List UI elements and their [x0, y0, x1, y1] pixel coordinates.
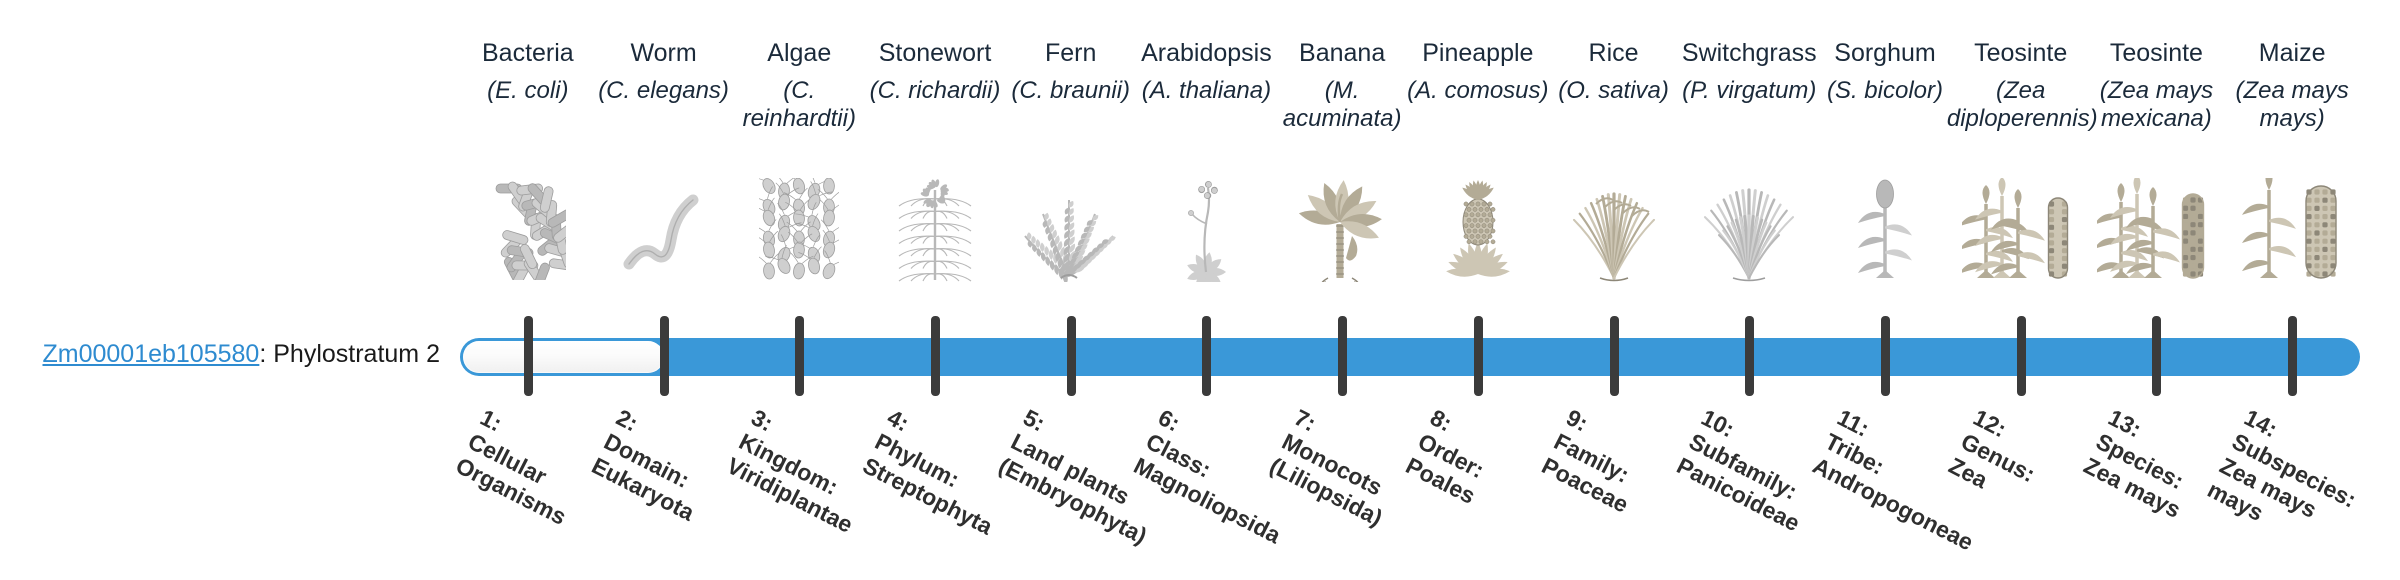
phylostratum-tick[interactable] [795, 316, 804, 396]
species-column: Pineapple (A. comosus) [1404, 38, 1552, 105]
stonewort-icon [861, 172, 1009, 282]
species-column: Bacteria (E. coli) [454, 38, 602, 105]
phylostratum-tick[interactable] [524, 316, 533, 396]
rice-icon [1540, 172, 1688, 282]
phylostratum-tick[interactable] [1474, 316, 1483, 396]
species-scientific-name: (Zea mays mays) [2218, 77, 2366, 133]
species-common-name: Sorghum [1811, 38, 1959, 68]
phylostratum-rank-label: 10: Subfamily: Panicoideae [1673, 404, 1829, 537]
species-scientific-name: (C. reinhardtii) [725, 77, 873, 133]
phylostratum-rank-label: 9: Family: Poaceae [1537, 404, 1657, 519]
phylostratum-tick[interactable] [931, 316, 940, 396]
teosinte-mex-icon [2083, 172, 2231, 282]
phylostratum-tick[interactable] [1745, 316, 1754, 396]
species-common-name: Banana [1268, 38, 1416, 68]
phylostratum-progress-bar[interactable] [460, 338, 2360, 376]
species-scientific-name: (O. sativa) [1540, 77, 1688, 105]
phylostratum-tick[interactable] [2152, 316, 2161, 396]
phylostratum-rank-label: 8: Order: Poales [1401, 404, 1504, 510]
species-scientific-name: (P. virgatum) [1675, 77, 1823, 105]
species-column: Teosinte (Zea mays mexicana) [2083, 38, 2231, 133]
sorghum-icon [1811, 172, 1959, 282]
phylostratum-tick[interactable] [1202, 316, 1211, 396]
progress-bar-fill [463, 341, 664, 373]
species-common-name: Maize [2218, 38, 2366, 68]
species-scientific-name: (Zea diploperennis) [1947, 77, 2095, 133]
species-common-name: Rice [1540, 38, 1688, 68]
species-common-name: Switchgrass [1675, 38, 1823, 68]
phylostratum-value-text: Phylostratum 2 [273, 340, 440, 368]
species-common-name: Teosinte [1947, 38, 2095, 68]
switchgrass-icon [1675, 172, 1823, 282]
species-common-name: Fern [997, 38, 1145, 68]
phylostratum-tick[interactable] [1881, 316, 1890, 396]
bacteria-icon [454, 172, 602, 282]
species-scientific-name: (C. elegans) [590, 77, 738, 105]
species-common-name: Pineapple [1404, 38, 1552, 68]
phylostratum-rank-label: 3: Kingdom: Viridiplantae [723, 404, 882, 539]
gene-phylostratum-label: Zm00001eb105580: Phylostratum 2 [40, 340, 440, 369]
species-column: Arabidopsis (A. thaliana) [1133, 38, 1281, 105]
gene-id-link[interactable]: Zm00001eb105580 [42, 340, 259, 368]
species-common-name: Algae [725, 38, 873, 68]
species-scientific-name: (C. braunii) [997, 77, 1145, 105]
phylostratum-tick[interactable] [1610, 316, 1619, 396]
species-column: Switchgrass (P. virgatum) [1675, 38, 1823, 105]
species-column: Fern (C. braunii) [997, 38, 1145, 105]
phylostratum-rank-label: 2: Domain: Eukaryota [587, 404, 723, 527]
species-scientific-name: (C. richardii) [861, 77, 1009, 105]
worm-icon [590, 172, 738, 282]
species-column: Sorghum (S. bicolor) [1811, 38, 1959, 105]
phylostratum-tick[interactable] [1338, 316, 1347, 396]
phylostratum-tick[interactable] [660, 316, 669, 396]
species-scientific-name: (A. thaliana) [1133, 77, 1281, 105]
species-common-name: Arabidopsis [1133, 38, 1281, 68]
species-column: Maize (Zea mays mays) [2218, 38, 2366, 133]
species-scientific-name: (S. bicolor) [1811, 77, 1959, 105]
fern-icon [997, 172, 1145, 282]
teosinte-diplo-icon [1947, 172, 2095, 282]
phylostratum-rank-label: 13: Species: Zea mays [2080, 404, 2210, 524]
phylostratum-tick[interactable] [2017, 316, 2026, 396]
maize-icon [2218, 172, 2366, 282]
pineapple-icon [1404, 172, 1552, 282]
phylostratum-rank-label: 14: Subspecies: Zea mays mays [2203, 404, 2384, 567]
species-scientific-name: (E. coli) [454, 77, 602, 105]
species-column: Algae (C. reinhardtii) [725, 38, 873, 133]
arabidopsis-icon [1133, 172, 1281, 282]
species-column: Banana (M. acuminata) [1268, 38, 1416, 133]
phylostratum-tick[interactable] [2288, 316, 2297, 396]
species-common-name: Bacteria [454, 38, 602, 68]
species-common-name: Worm [590, 38, 738, 68]
species-column: Stonewort (C. richardii) [861, 38, 1009, 105]
species-common-name: Stonewort [861, 38, 1009, 68]
phylostratum-tick[interactable] [1067, 316, 1076, 396]
species-column: Teosinte (Zea diploperennis) [1947, 38, 2095, 133]
species-scientific-name: (Zea mays mexicana) [2083, 77, 2231, 133]
banana-icon [1268, 172, 1416, 282]
phylostratum-timeline: Zm00001eb105580: Phylostratum 2 Bacteria… [0, 0, 2400, 580]
species-common-name: Teosinte [2083, 38, 2231, 68]
gene-label-separator: : [259, 340, 273, 368]
algae-icon [725, 172, 873, 282]
species-column: Worm (C. elegans) [590, 38, 738, 105]
phylostratum-rank-label: 1: Cellular Organisms [451, 404, 595, 531]
species-column: Rice (O. sativa) [1540, 38, 1688, 105]
species-scientific-name: (M. acuminata) [1268, 77, 1416, 133]
species-scientific-name: (A. comosus) [1404, 77, 1552, 105]
